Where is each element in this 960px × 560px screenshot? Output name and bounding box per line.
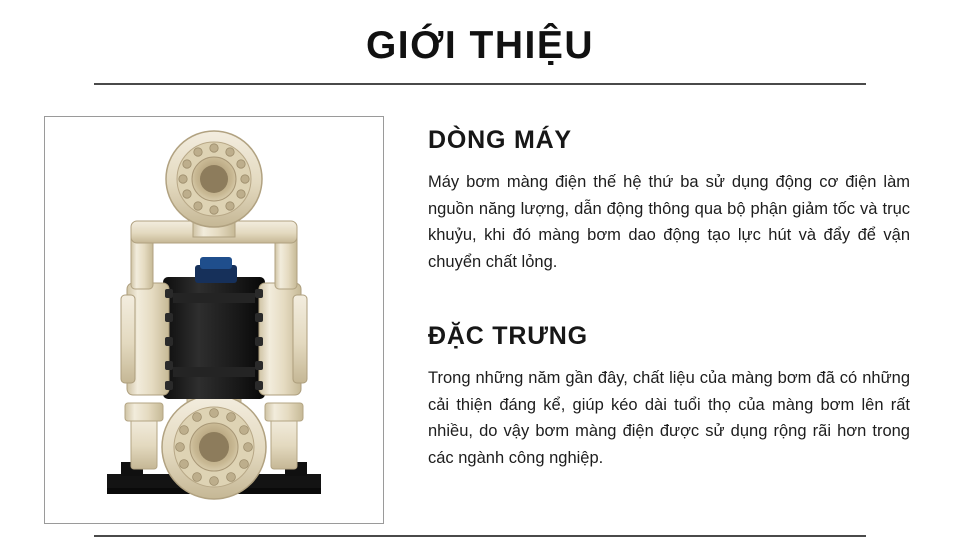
section-heading-dong-may: DÒNG MÁY (428, 126, 910, 155)
pump-motor-body (163, 257, 265, 399)
pump-left-chamber (121, 283, 173, 395)
section-dong-may: DÒNG MÁY Máy bơm màng điện thế hệ thứ ba… (428, 126, 910, 276)
divider-top (94, 83, 866, 85)
section-body-dac-trung: Trong những năm gần đây, chất liệu của m… (428, 365, 910, 472)
electric-diaphragm-pump-photo (45, 117, 383, 523)
content-column: DÒNG MÁY Máy bơm màng điện thế hệ thứ ba… (428, 126, 910, 472)
section-body-dong-may: Máy bơm màng điện thế hệ thứ ba sử dụng … (428, 169, 910, 276)
section-dac-trung: ĐẶC TRƯNG Trong những năm gần đây, chất … (428, 322, 910, 472)
pump-right-chamber (255, 283, 307, 395)
section-heading-dac-trung: ĐẶC TRƯNG (428, 322, 910, 351)
pump-upper-port (166, 131, 262, 227)
product-photo-frame (44, 116, 384, 524)
page-title: GIỚI THIỆU (0, 24, 960, 68)
slide-root: GIỚI THIỆU (0, 0, 960, 560)
divider-bottom (94, 535, 866, 537)
